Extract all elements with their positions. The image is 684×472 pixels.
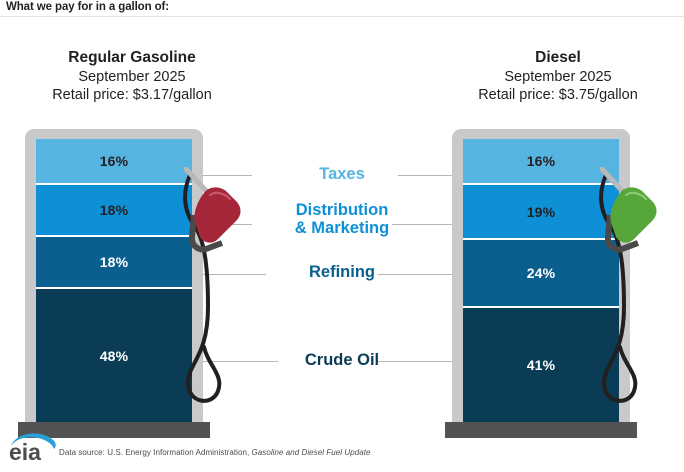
pump-screen-diesel: 16% 19% 24% 41% [463, 139, 619, 422]
segment-taxes-diesel[interactable]: 16% [463, 139, 619, 185]
category-label-refining: Refining [232, 263, 452, 281]
segment-distribution-diesel[interactable]: 19% [463, 185, 619, 240]
segment-taxes-regular-gasoline[interactable]: 16% [36, 139, 192, 185]
pump-title-diesel: Diesel September 2025 Retail price: $3.7… [428, 48, 684, 105]
segment-value-taxes-regular-gasoline: 16% [100, 153, 129, 169]
pump-price-diesel: Retail price: $3.75/gallon [428, 86, 684, 105]
segment-value-refining-diesel: 24% [527, 265, 556, 281]
segment-value-refining-regular-gasoline: 18% [100, 254, 129, 270]
eia-logo-icon: eia [8, 430, 60, 464]
pump-month-regular-gasoline: September 2025 [2, 68, 262, 87]
category-label-distribution: Distribution & Marketing [232, 201, 452, 238]
pump-screen-regular-gasoline: 16% 18% 18% 48% [36, 139, 192, 422]
segment-value-distribution-regular-gasoline: 18% [100, 202, 129, 218]
page-title-text: What we pay for in a gallon of: [6, 1, 169, 13]
data-source-publication: Gasoline and Diesel Fuel Update [252, 448, 371, 457]
segment-value-crude-diesel: 41% [527, 357, 556, 373]
category-label-taxes-text: Taxes [319, 165, 365, 183]
segment-value-crude-regular-gasoline: 48% [100, 348, 129, 364]
category-label-crude-oil-text: Crude Oil [305, 351, 379, 369]
pump-month-diesel: September 2025 [428, 68, 684, 87]
category-label-refining-text: Refining [309, 263, 375, 281]
segment-distribution-regular-gasoline[interactable]: 18% [36, 185, 192, 237]
category-label-distribution-line2: & Marketing [295, 219, 389, 237]
pump-name-regular-gasoline: Regular Gasoline [2, 48, 262, 68]
segment-crude-regular-gasoline[interactable]: 48% [36, 289, 192, 422]
segment-refining-diesel[interactable]: 24% [463, 240, 619, 308]
svg-text:eia: eia [9, 439, 41, 464]
page-title: What we pay for in a gallon of: [0, 0, 684, 16]
segment-crude-diesel[interactable]: 41% [463, 308, 619, 422]
pump-title-regular-gasoline: Regular Gasoline September 2025 Retail p… [2, 48, 262, 105]
data-source-prefix: Data source: U.S. Energy Information Adm… [59, 448, 252, 457]
data-source-note: Data source: U.S. Energy Information Adm… [59, 448, 370, 457]
pump-price-regular-gasoline: Retail price: $3.17/gallon [2, 86, 262, 105]
footer: eia Data source: U.S. Energy Information… [0, 428, 684, 472]
category-label-taxes: Taxes [232, 165, 452, 183]
pump-diesel: 16% 19% 24% 41% [452, 129, 630, 422]
category-label-crude-oil: Crude Oil [232, 351, 452, 369]
chart-stage: Regular Gasoline September 2025 Retail p… [0, 17, 684, 427]
pump-regular-gasoline: 16% 18% 18% 48% [25, 129, 203, 422]
segment-value-distribution-diesel: 19% [527, 204, 556, 220]
segment-value-taxes-diesel: 16% [527, 153, 556, 169]
segment-refining-regular-gasoline[interactable]: 18% [36, 237, 192, 289]
pump-name-diesel: Diesel [428, 48, 684, 68]
category-label-distribution-line1: Distribution [296, 201, 389, 219]
